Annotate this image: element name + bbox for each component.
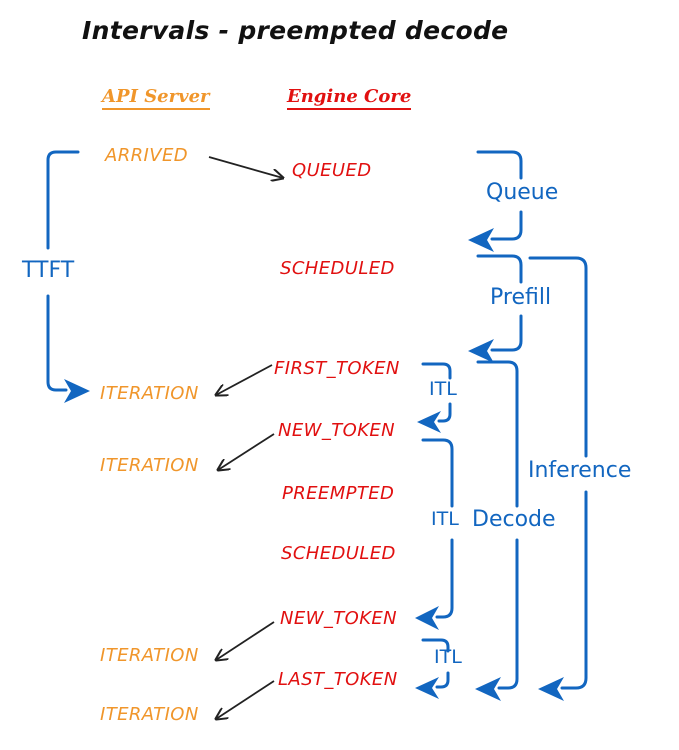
column-header-api-server: API Server <box>102 86 210 110</box>
arrow-arrived-to-queued <box>209 157 283 178</box>
interval-label-itl-decode: ITL <box>431 508 459 530</box>
event-iteration-1: ITERATION <box>100 383 199 404</box>
arrow-last-token-to-iteration <box>216 681 274 719</box>
interval-label-itl-first: ITL <box>429 378 457 400</box>
arrow-new-token-to-iteration <box>218 434 274 470</box>
arrow-new-token-to-iteration-2 <box>216 622 274 660</box>
event-new-token-2: NEW_TOKEN <box>280 608 397 629</box>
event-queued: QUEUED <box>292 160 372 181</box>
event-scheduled-2: SCHEDULED <box>281 543 396 564</box>
page-title: Intervals - preempted decode <box>82 16 508 45</box>
event-preempted: PREEMPTED <box>282 483 394 504</box>
interval-label-queue: Queue <box>486 180 558 205</box>
event-last-token: LAST_TOKEN <box>278 669 398 690</box>
interval-label-itl-last: ITL <box>434 646 462 668</box>
event-iteration-3: ITERATION <box>100 645 199 666</box>
interval-label-decode: Decode <box>472 507 556 532</box>
interval-label-inference: Inference <box>528 458 631 483</box>
event-iteration-4: ITERATION <box>100 704 199 725</box>
column-header-engine-core: Engine Core <box>287 86 411 110</box>
event-arrived: ARRIVED <box>105 145 188 166</box>
connector-arrows <box>209 157 283 719</box>
event-iteration-2: ITERATION <box>100 455 199 476</box>
bracket-itl-decode <box>415 440 452 630</box>
interval-label-prefill: Prefill <box>490 285 551 310</box>
event-new-token-1: NEW_TOKEN <box>278 420 395 441</box>
interval-label-ttft: TTFT <box>22 258 74 283</box>
event-first-token: FIRST_TOKEN <box>274 358 400 379</box>
arrow-first-token-to-iteration <box>216 365 272 395</box>
event-scheduled-1: SCHEDULED <box>280 258 395 279</box>
